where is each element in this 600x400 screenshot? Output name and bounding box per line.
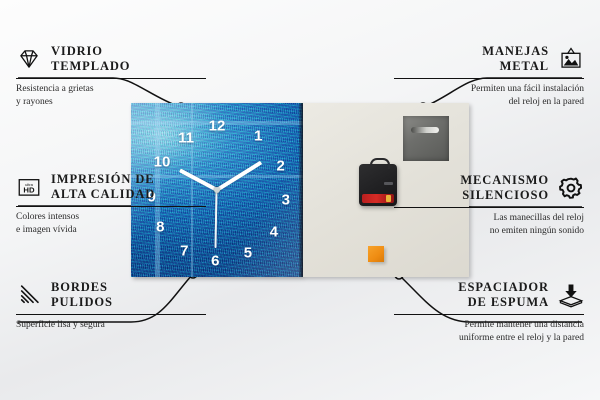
callout-vidrio-templado: VIDRIO TEMPLADO Resistencia a grietas y …	[16, 44, 206, 109]
framed-picture-hanger-icon	[558, 46, 584, 72]
callout-title: ESPACIADOR DE ESPUMA	[458, 280, 549, 310]
foam-spacer-arrow-icon	[558, 282, 584, 308]
callout-espaciador-de-espuma: ESPACIADOR DE ESPUMA Permite mantener un…	[394, 280, 584, 345]
clock-numeral-11: 11	[178, 130, 194, 145]
clock-numeral-6: 6	[211, 254, 219, 269]
polished-edges-icon	[16, 282, 42, 308]
callout-bordes-pulidos: BORDES PULIDOS Superficie lisa y segura	[16, 280, 206, 332]
clock-numeral-5: 5	[244, 245, 252, 260]
clock-numeral-2: 2	[276, 158, 284, 173]
diamond-icon	[16, 46, 42, 72]
svg-text:HD: HD	[23, 185, 35, 194]
hanger-slot	[411, 127, 439, 133]
clock-numeral-1: 1	[254, 129, 262, 144]
callout-description: Resistencia a grietas y rayones	[16, 83, 206, 109]
callout-description: Permiten una fácil instalación del reloj…	[394, 83, 584, 109]
callout-impresion-alta-calidad: ultra HD IMPRESIÓN DE ALTA CALIDAD Color…	[16, 172, 206, 237]
mechanism-label	[384, 182, 393, 185]
callout-rule	[16, 314, 206, 315]
callout-header: MECANISMO SILENCIOSO	[394, 173, 584, 203]
callout-rule	[394, 314, 584, 315]
clock-numeral-7: 7	[180, 243, 188, 258]
callout-title: BORDES PULIDOS	[51, 280, 113, 310]
callout-header: BORDES PULIDOS	[16, 280, 206, 310]
foam-spacer	[368, 246, 384, 262]
ultra-hd-icon: ultra HD	[16, 174, 42, 200]
callout-header: MANEJAS METAL	[394, 44, 584, 74]
callout-header: ultra HD IMPRESIÓN DE ALTA CALIDAD	[16, 172, 206, 202]
callout-description: Colores intensos e imagen vívida	[16, 211, 206, 237]
metal-hanger-plate	[403, 116, 449, 161]
callout-title: MECANISMO SILENCIOSO	[460, 173, 549, 203]
clock-mechanism	[359, 164, 397, 206]
clock-numeral-10: 10	[154, 155, 171, 170]
clock-numeral-12: 12	[209, 118, 226, 133]
callout-title: MANEJAS METAL	[482, 44, 549, 74]
callout-mecanismo-silencioso: MECANISMO SILENCIOSO Las manecillas del …	[394, 173, 584, 238]
callout-title: IMPRESIÓN DE ALTA CALIDAD	[51, 172, 155, 202]
mechanism-hanging-loop	[370, 158, 390, 169]
callout-rule	[16, 78, 206, 79]
callout-header: ESPACIADOR DE ESPUMA	[394, 280, 584, 310]
clock-center-cap	[214, 187, 220, 193]
callout-rule	[394, 78, 584, 79]
battery	[362, 194, 394, 203]
clock-numeral-4: 4	[270, 224, 278, 239]
callout-rule	[394, 207, 584, 208]
infographic-stage: 12 1 2 3 4 5 6 7 8 9 10 11	[0, 0, 600, 400]
callout-description: Permite mantener una distancia uniforme …	[394, 319, 584, 345]
gear-icon	[558, 175, 584, 201]
callout-rule	[16, 206, 206, 207]
callout-description: Las manecillas del reloj no emiten ningú…	[394, 212, 584, 238]
callout-description: Superficie lisa y segura	[16, 319, 206, 332]
callout-title: VIDRIO TEMPLADO	[51, 44, 130, 74]
callout-manejas-metal: MANEJAS METAL Permiten una fácil instala…	[394, 44, 584, 109]
clock-numeral-3: 3	[282, 193, 290, 208]
callout-header: VIDRIO TEMPLADO	[16, 44, 206, 74]
